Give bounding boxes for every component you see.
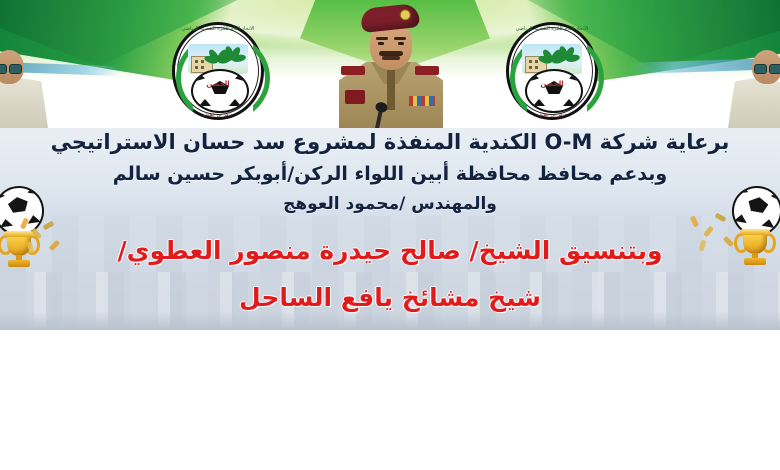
portrait-right xyxy=(716,44,780,128)
coordination-line-2: شيخ مشائخ يافع الساحل xyxy=(0,283,780,312)
officer-portrait xyxy=(325,4,455,128)
emblem-top-text: الاتحاد العام للكرة الشعبية الرياضي xyxy=(172,26,264,32)
bottom-band-section: ينظم إتحاد الحصن للفرق الشعبية كأس سد حس… xyxy=(0,330,780,470)
officer-rank-patch xyxy=(345,90,365,104)
federation-emblem-right: الاتحاد العام للكرة الشعبية الرياضي الحص… xyxy=(506,22,598,120)
emblem-center-text: الحصن xyxy=(172,80,264,88)
officer-eye-right xyxy=(398,42,404,45)
soccer-ball-icon xyxy=(191,69,249,113)
sunglasses-icon-left xyxy=(0,64,22,72)
officer-mouth xyxy=(382,56,400,60)
portrait-right-body xyxy=(728,76,780,128)
background-dam-photo xyxy=(0,216,780,330)
officer-brows xyxy=(376,37,406,40)
portrait-left xyxy=(0,44,64,128)
emblem-center-text: الحصن xyxy=(506,80,598,88)
officer-tie xyxy=(387,70,395,110)
military-beret-icon xyxy=(360,3,420,33)
top-banner: الاتحاد العام للكرة الشعبية الرياضي الحص… xyxy=(0,0,780,128)
sponsor-line-3: والمهندس /محمود العوهج xyxy=(0,194,780,214)
sponsor-line-1: برعاية شركة O-M الكندية المنفذة لمشروع س… xyxy=(0,130,780,154)
tournament-poster: الاتحاد العام للكرة الشعبية الرياضي الحص… xyxy=(0,0,780,470)
soccer-ball-icon xyxy=(525,69,583,113)
sunglasses-icon-right xyxy=(754,64,780,72)
officer-epaulette-right xyxy=(415,66,439,75)
officer-medal-ribbons xyxy=(409,96,435,106)
federation-emblem-left: الاتحاد العام للكرة الشعبية الرياضي الحص… xyxy=(172,22,264,120)
emblem-top-text: الاتحاد العام للكرة الشعبية الرياضي xyxy=(506,26,598,32)
emblem-bottom-text: خنفر بن عفيف xyxy=(172,112,264,118)
officer-eye-left xyxy=(378,42,384,45)
sponsor-line-2: وبدعم محافظ محافظة أبين اللواء الركن/أبو… xyxy=(0,163,780,185)
coordination-line-1: وبتنسيق الشيخ/ صالح حيدرة منصور العطوي/ xyxy=(0,236,780,265)
officer-epaulette-left xyxy=(341,66,365,75)
emblem-bottom-text: خنفر بن عفيف xyxy=(506,112,598,118)
